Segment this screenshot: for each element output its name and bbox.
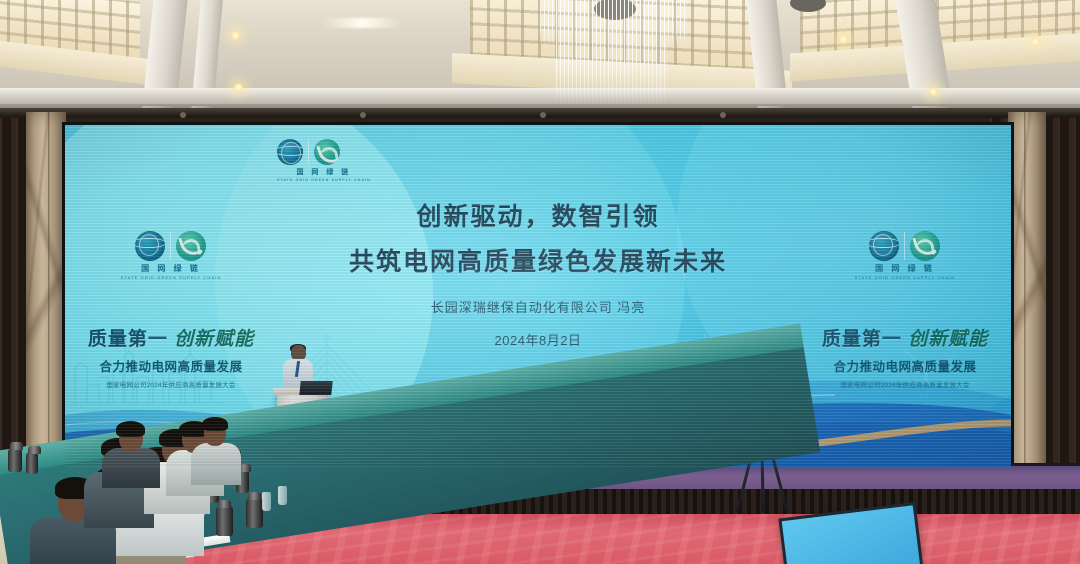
banner-left-slogan-main: 质量第一 创新赋能: [73, 324, 269, 351]
thermos-cap: [248, 492, 261, 500]
banner-left-logo-wrap: 国 网 绿 链 STATE GRID GREEN SUPPLY CHAIN: [73, 231, 269, 280]
banner-right-slogan-b: 创新赋能: [908, 329, 988, 350]
state-grid-globe-icon: [869, 231, 899, 261]
downlight-icon-4: [1030, 36, 1041, 47]
chandelier-icon: [556, 0, 668, 104]
thermos-cap: [28, 446, 41, 454]
conference-hall-photo: 国 网 绿 链 STATE GRID GREEN SUPPLY CHAIN 创新…: [0, 0, 1080, 564]
curtain-right: [1042, 118, 1080, 518]
banner-left-logo-cn: 国 网 绿 链: [121, 263, 222, 274]
banner-right-logo-cn: 国 网 绿 链: [855, 263, 956, 274]
person-8-hair: [116, 421, 145, 437]
person-7-body: [191, 443, 241, 485]
thermos-2: [216, 506, 233, 536]
thermos-6: [8, 448, 22, 472]
green-supply-chain-s-icon: [176, 231, 206, 261]
slide-header-logo: 国 网 绿 链 STATE GRID GREEN SUPPLY CHAIN: [277, 139, 371, 182]
downlight-icon-2: [233, 82, 244, 93]
banner-left-slogan-fine: 国家电网公司2024年供应商高质量发展大会: [73, 379, 269, 389]
state-grid-globe-icon: [135, 231, 165, 261]
audience-person-8: [106, 424, 152, 470]
water-bottle-1: [262, 492, 271, 511]
state-grid-globe-icon: [277, 139, 303, 165]
thermos-cap: [218, 500, 231, 508]
logo-divider: [308, 140, 309, 164]
downlight-icon-5: [928, 86, 939, 97]
logo-cn-text: 国 网 绿 链: [277, 167, 371, 177]
state-grid-logo-lockup: [277, 139, 371, 165]
banner-left-logo-lockup: [121, 231, 222, 261]
green-supply-chain-s-icon: [910, 231, 940, 261]
banner-right-slogan-sub: 合力推动电网高质量发展: [807, 356, 1003, 375]
banner-left-slogan-a: 质量第一: [88, 329, 168, 350]
downlight-icon-1: [230, 30, 241, 41]
person-8-body: [102, 448, 160, 488]
thermos-7: [26, 452, 38, 474]
ceiling-strip-light: [322, 18, 402, 28]
banner-right-logo-lockup: [855, 231, 956, 261]
green-supply-chain-s-icon: [314, 139, 340, 165]
banner-right-slogan-a: 质量第一: [822, 329, 902, 350]
downlight-icon-3: [838, 34, 849, 45]
logo-divider: [904, 232, 905, 260]
banner-left-slogan-b: 创新赋能: [174, 329, 254, 350]
banner-right-slogan-main: 质量第一 创新赋能: [807, 324, 1003, 351]
ceiling: [0, 0, 1080, 118]
banner-left-logo-en: STATE GRID GREEN SUPPLY CHAIN: [121, 275, 222, 280]
headline-line-1: 创新驱动，数智引领: [65, 197, 1011, 233]
person-7-hair: [202, 417, 228, 431]
banner-left-slogan-sub: 合力推动电网高质量发展: [73, 356, 269, 375]
pillar-right-groove: [1024, 112, 1027, 522]
laptop-on-podium: [299, 381, 332, 395]
banner-right-logo-en: STATE GRID GREEN SUPPLY CHAIN: [855, 275, 956, 280]
banner-right-logo-wrap: 国 网 绿 链 STATE GRID GREEN SUPPLY CHAIN: [807, 231, 1003, 280]
side-banner-left: 国 网 绿 链 STATE GRID GREEN SUPPLY CHAIN 质量…: [73, 231, 269, 389]
thermos-cap: [10, 442, 23, 450]
logo-divider: [170, 232, 171, 260]
side-banner-right: 国 网 绿 链 STATE GRID GREEN SUPPLY CHAIN 质量…: [807, 231, 1003, 389]
audience-person-7: [194, 420, 232, 472]
thermos-3: [246, 498, 263, 528]
banner-right-slogan-fine: 国家电网公司2024年供应商高质量发展大会: [807, 379, 1003, 389]
logo-en-text: STATE GRID GREEN SUPPLY CHAIN: [277, 178, 371, 182]
water-bottle-2: [278, 486, 287, 505]
